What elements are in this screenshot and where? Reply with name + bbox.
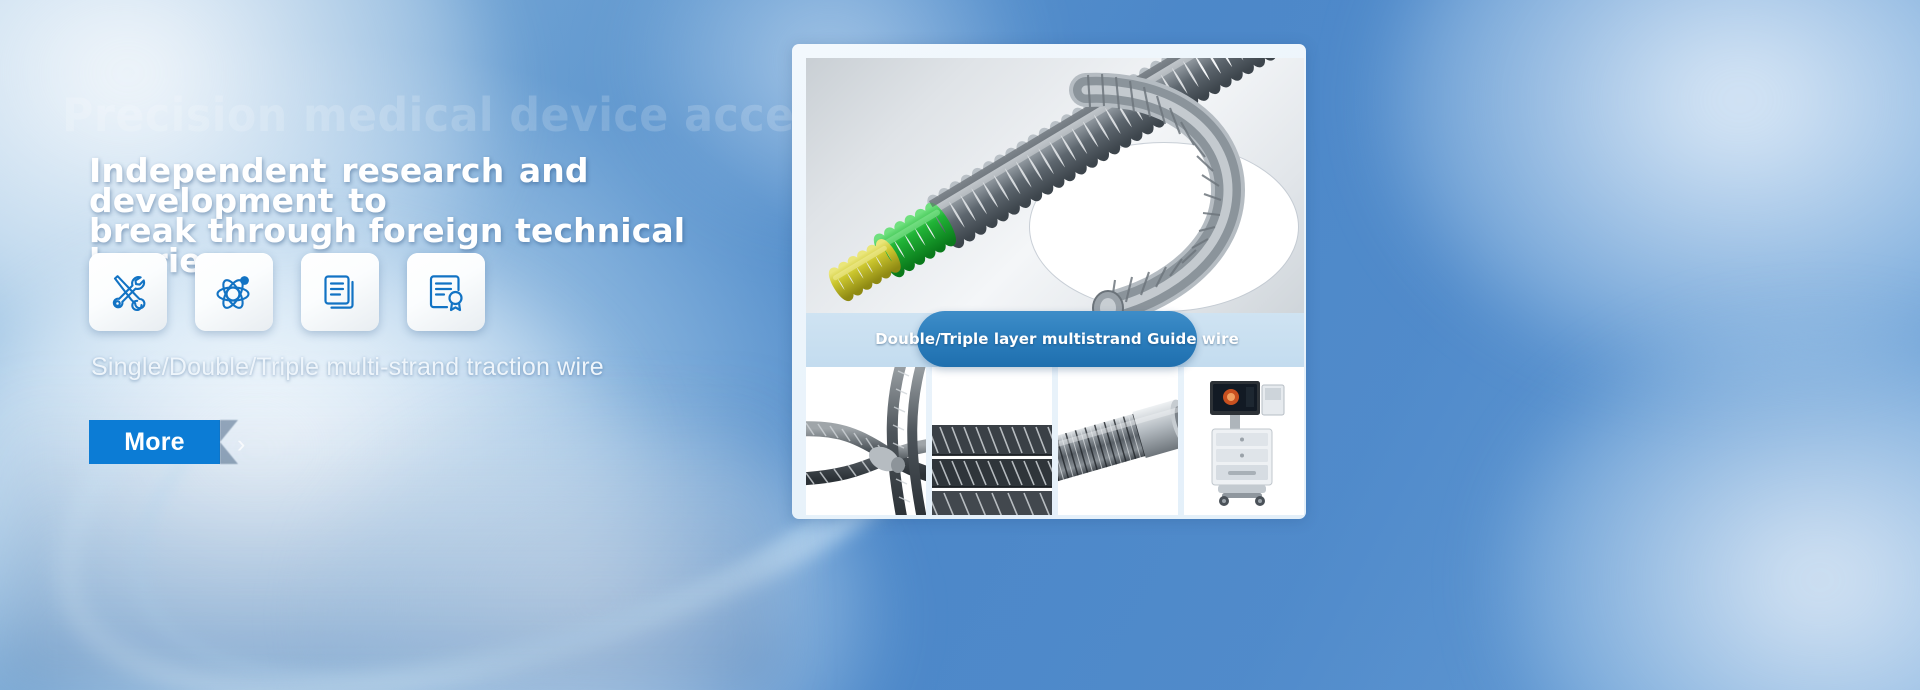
certificate-icon bbox=[424, 270, 468, 314]
thumbnail-mesh-texture[interactable] bbox=[932, 367, 1052, 515]
documents-icon bbox=[318, 270, 362, 314]
feature-card-documents[interactable] bbox=[301, 253, 379, 331]
more-button-group[interactable]: More › bbox=[89, 420, 254, 464]
coiled-guide-wire-render bbox=[806, 58, 1304, 313]
more-button[interactable]: More bbox=[89, 420, 220, 464]
product-showcase-card: Double/Triple layer multistrand Guide wi… bbox=[792, 44, 1306, 519]
chevron-right-icon: › bbox=[237, 430, 245, 459]
headline-line-1: Independent research and development to bbox=[89, 156, 779, 216]
tools-icon bbox=[106, 270, 150, 314]
feature-card-certificate[interactable] bbox=[407, 253, 485, 331]
product-label-pill: Double/Triple layer multistrand Guide wi… bbox=[917, 311, 1197, 367]
feature-card-research[interactable] bbox=[195, 253, 273, 331]
feature-icon-row bbox=[89, 253, 485, 331]
hero-banner: Precision medical device accessories sup… bbox=[0, 0, 1920, 690]
feature-card-tools[interactable] bbox=[89, 253, 167, 331]
product-thumbnail-strip bbox=[806, 367, 1304, 515]
product-label-text: Double/Triple layer multistrand Guide wi… bbox=[875, 330, 1239, 348]
thumbnail-braided-wire[interactable] bbox=[806, 367, 926, 515]
atom-icon bbox=[212, 270, 256, 314]
product-render-panel bbox=[806, 58, 1304, 313]
banner-text-column: Precision medical device accessories sup… bbox=[0, 0, 820, 690]
thumbnail-metal-tube[interactable] bbox=[1058, 367, 1178, 515]
thumbnail-medical-cart[interactable] bbox=[1184, 367, 1304, 515]
banner-subtitle: Single/Double/Triple multi-strand tracti… bbox=[91, 353, 604, 382]
